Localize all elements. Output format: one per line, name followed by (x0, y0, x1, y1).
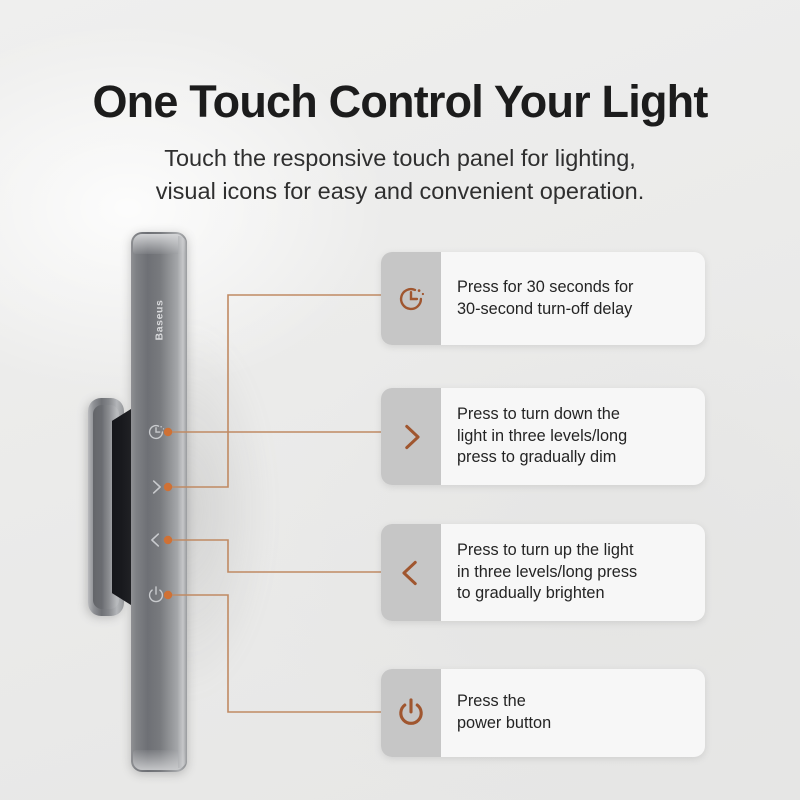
connector-line-3 (168, 540, 381, 572)
connector-line-4 (168, 595, 381, 712)
connector-dot-timer (164, 428, 172, 436)
connector-dot-chevron-right (164, 483, 172, 491)
callout-card-dim-down[interactable]: Press to turn down the light in three le… (381, 388, 705, 485)
callout-text-dim-down: Press to turn down the light in three le… (441, 388, 705, 485)
chevron-left-icon (381, 524, 441, 621)
callout-text-power: Press the power button (441, 669, 705, 757)
card-line: light in three levels/long (457, 426, 627, 448)
card-line: to gradually brighten (457, 583, 637, 605)
infographic-page: One Touch Control Your Light Touch the r… (0, 0, 800, 800)
card-line: power button (457, 713, 551, 735)
card-line: Press to turn up the light (457, 540, 637, 562)
card-line: Press the (457, 691, 551, 713)
card-line: press to gradually dim (457, 447, 627, 469)
callout-card-brighten[interactable]: Press to turn up the light in three leve… (381, 524, 705, 621)
callout-text-timer: Press for 30 seconds for 30-second turn-… (441, 252, 705, 345)
power-icon (381, 669, 441, 757)
card-line: 30-second turn-off delay (457, 299, 633, 321)
timer-icon (381, 252, 441, 345)
chevron-right-icon (381, 388, 441, 485)
connector-dot-chevron-left (164, 536, 172, 544)
callout-card-timer[interactable]: Press for 30 seconds for 30-second turn-… (381, 252, 705, 345)
card-line: Press for 30 seconds for (457, 277, 633, 299)
connector-dot-power (164, 591, 172, 599)
callout-text-brighten: Press to turn up the light in three leve… (441, 524, 705, 621)
card-line: in three levels/long press (457, 562, 637, 584)
connector-line-1 (168, 295, 381, 487)
callout-card-power[interactable]: Press the power button (381, 669, 705, 757)
card-line: Press to turn down the (457, 404, 627, 426)
